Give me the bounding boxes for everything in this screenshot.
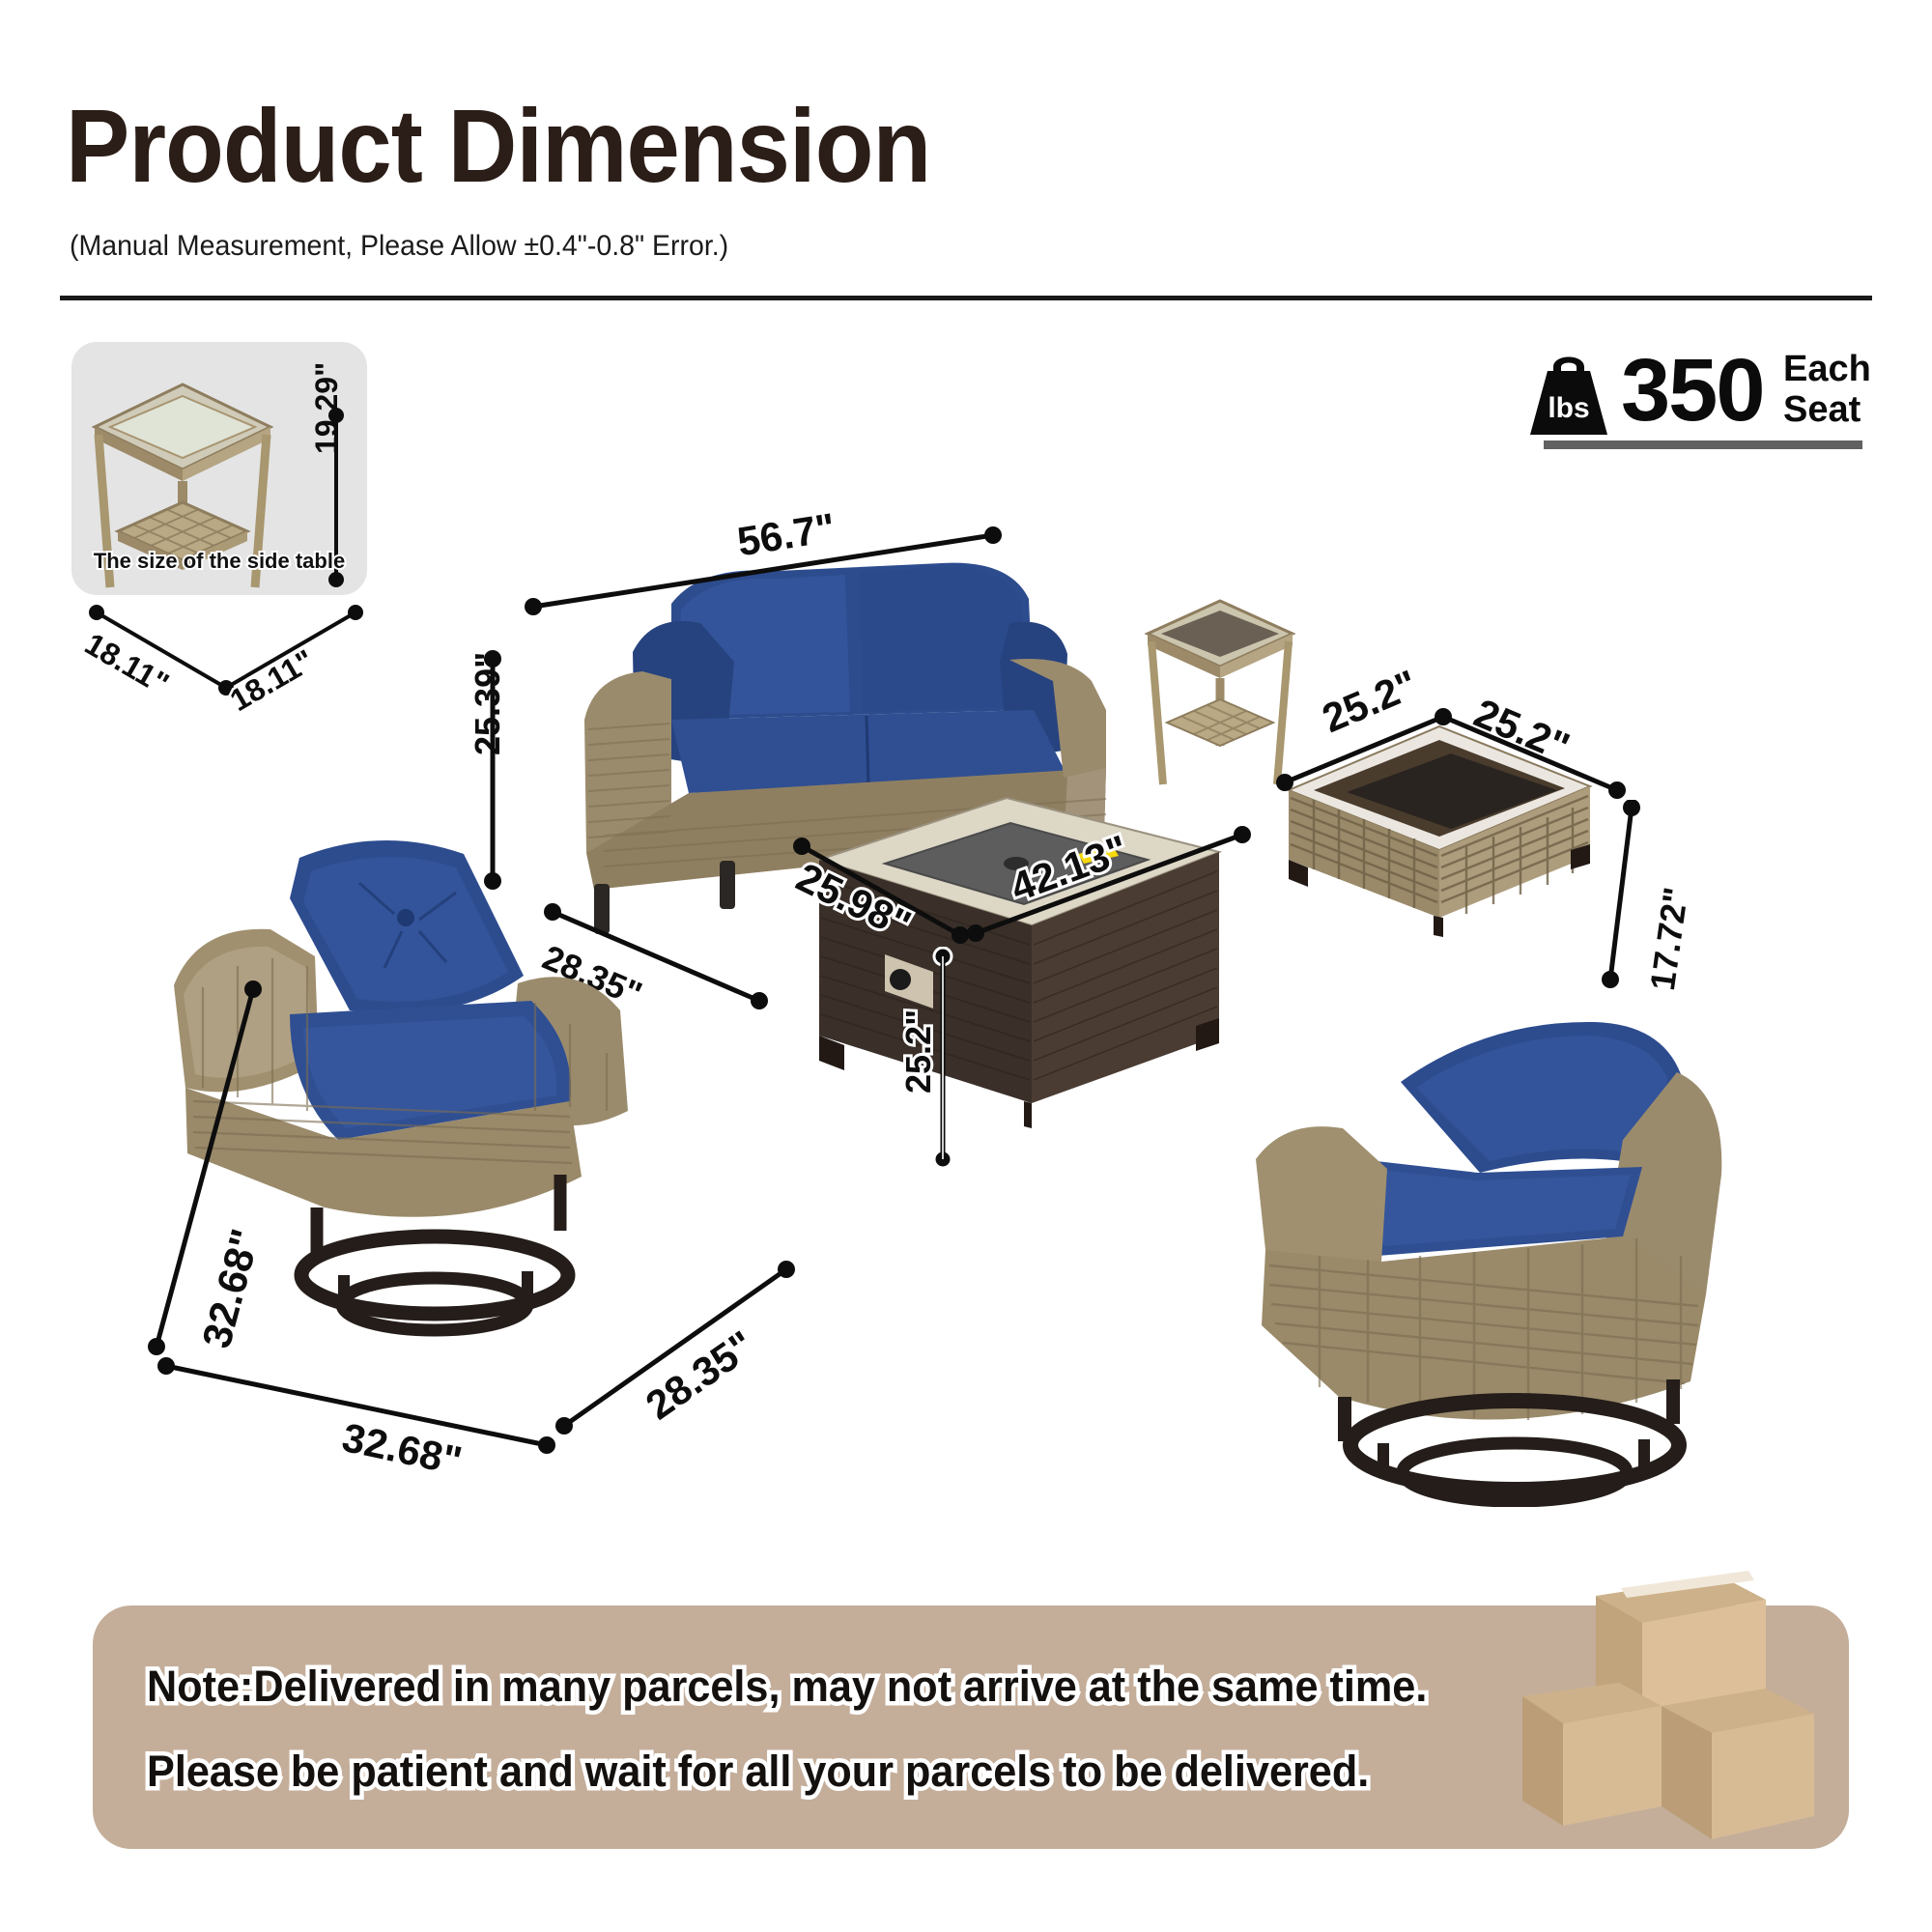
- weight-lbs-icon: lbs: [1524, 342, 1613, 439]
- page-subtitle: (Manual Measurement, Please Allow ±0.4"-…: [70, 230, 728, 263]
- right-swivel-chair-illustration: [1140, 966, 1739, 1507]
- product-dimension-infographic: Product Dimension (Manual Measurement, P…: [0, 0, 1932, 1932]
- weight-capacity-value: 350: [1621, 346, 1764, 435]
- side-table-inset-caption: The size of the side table: [71, 549, 367, 574]
- cardboard-boxes-icon: [1507, 1553, 1874, 1853]
- weight-capacity-line2: Seat: [1783, 390, 1861, 429]
- weight-capacity-badge: lbs 350 Each Seat: [1524, 340, 1872, 454]
- delivery-note-line-2: Please be patient and wait for all your …: [147, 1747, 1369, 1797]
- ottoman-height-dimension-line: [1599, 800, 1647, 993]
- svg-text:lbs: lbs: [1548, 392, 1589, 424]
- delivery-note-line-1: Note:Delivered in many parcels, may not …: [147, 1662, 1427, 1712]
- fire-table-height-label: 25.2": [898, 1009, 939, 1094]
- page-title: Product Dimension: [66, 85, 930, 206]
- loveseat-height-label: 25.39": [468, 652, 508, 755]
- side-table-height-label: 19.29": [309, 362, 345, 454]
- weight-capacity-line1: Each: [1783, 350, 1871, 388]
- weight-badge-underline: [1544, 440, 1862, 449]
- header-divider: [60, 296, 1872, 300]
